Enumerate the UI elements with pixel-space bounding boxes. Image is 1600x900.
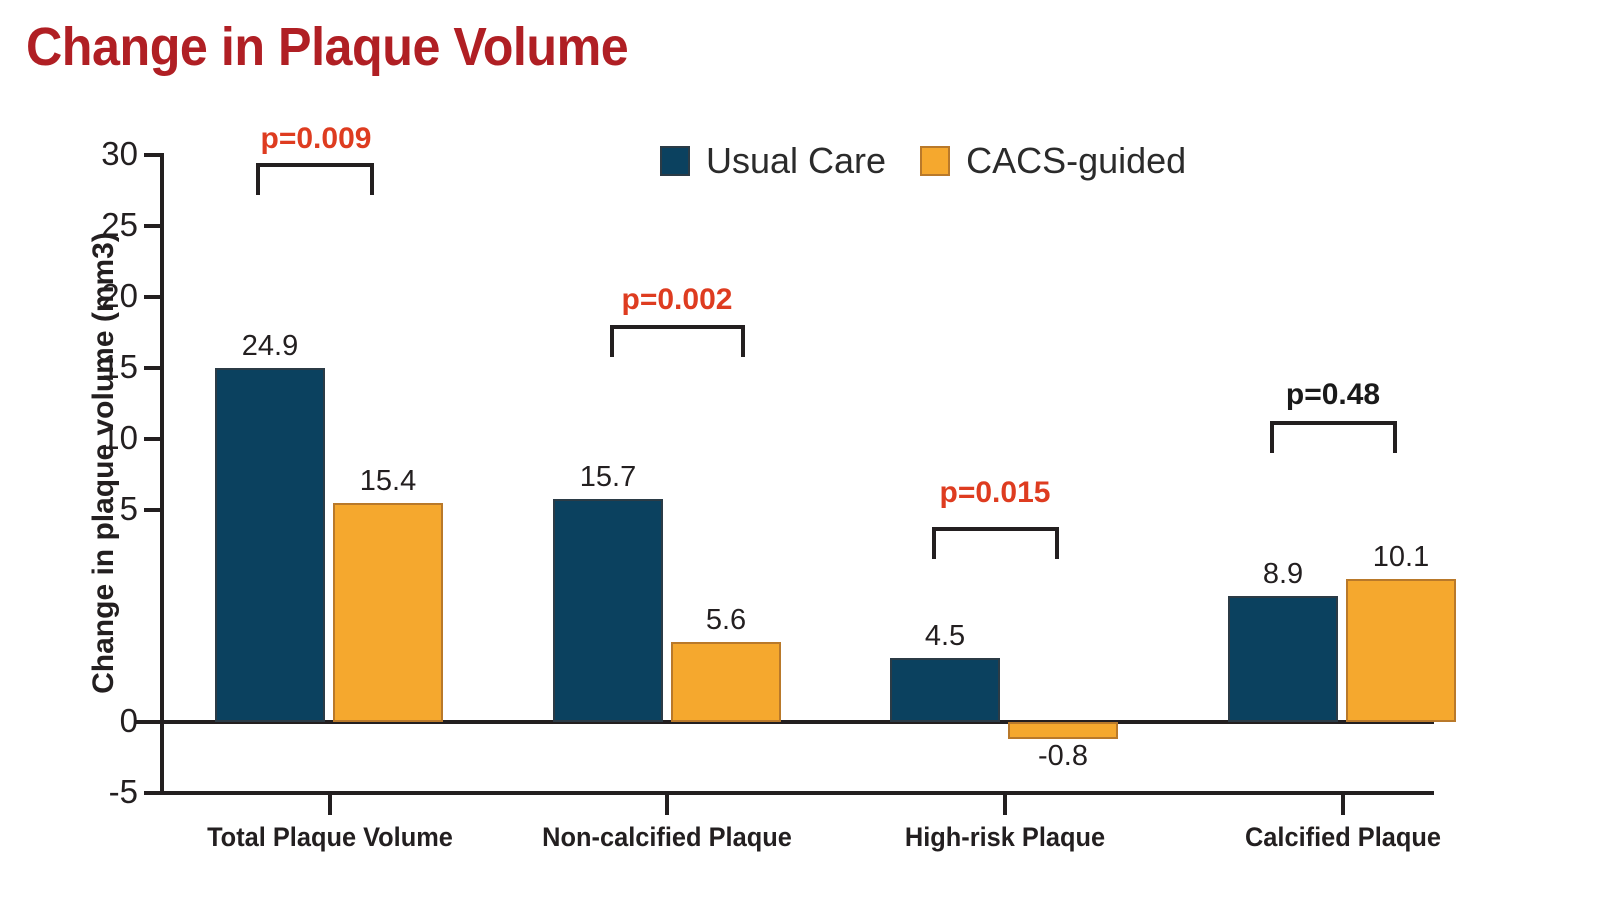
p-value-non-calcified-plaque: p=0.002 [606, 283, 748, 317]
legend-swatch-cacs-guided-icon [920, 146, 950, 176]
y-tick-0 [136, 720, 162, 724]
y-tick-label-15: 15 [72, 348, 138, 386]
bar-usual-care-non-calcified-plaque[interactable] [553, 499, 663, 722]
y-axis-line [160, 153, 164, 795]
bar-value-usual-care-total-plaque-volume: 24.9 [200, 330, 340, 363]
legend: Usual Care CACS-guided [660, 140, 1186, 182]
y-tick-label-0: 0 [72, 702, 138, 740]
x-tick-total-plaque-volume [328, 793, 332, 815]
bar-value-cacs-guided-total-plaque-volume: 15.4 [318, 465, 458, 498]
bar-cacs-guided-total-plaque-volume[interactable] [333, 503, 443, 722]
bar-chart: Change in plaque volume (mm3) 30 25 20 1… [0, 0, 1600, 900]
y-tick-label-5: 5 [72, 490, 138, 528]
significance-bracket-non-calcified-plaque [610, 325, 745, 357]
y-tick-label-minus5: -5 [72, 773, 138, 811]
slide-root: Change in Plaque Volume Change in plaque… [0, 0, 1600, 900]
significance-bracket-total-plaque-volume [256, 163, 374, 195]
legend-item-usual-care[interactable]: Usual Care [660, 140, 886, 182]
bar-cacs-guided-calcified-plaque[interactable] [1346, 579, 1456, 722]
y-axis-title: Change in plaque volume (mm3) [87, 153, 121, 773]
p-value-total-plaque-volume: p=0.009 [245, 122, 387, 156]
x-tick-non-calcified-plaque [665, 793, 669, 815]
bar-cacs-guided-non-calcified-plaque[interactable] [671, 642, 781, 722]
x-tick-high-risk-plaque [1003, 793, 1007, 815]
y-tick-30 [144, 153, 162, 157]
y-tick-label-20: 20 [72, 277, 138, 315]
bar-value-cacs-guided-calcified-plaque: 10.1 [1331, 541, 1471, 574]
bar-value-cacs-guided-high-risk-plaque: -0.8 [993, 740, 1133, 773]
y-tick-20 [144, 295, 162, 299]
significance-bracket-high-risk-plaque [932, 527, 1059, 559]
y-tick-5 [144, 508, 162, 512]
x-axis-label-calcified-plaque: Calcified Plaque [1174, 822, 1512, 853]
y-tick-25 [144, 224, 162, 228]
legend-swatch-usual-care-icon [660, 146, 690, 176]
bar-cacs-guided-high-risk-plaque[interactable] [1008, 722, 1118, 739]
bar-value-usual-care-non-calcified-plaque: 15.7 [538, 461, 678, 494]
bar-usual-care-calcified-plaque[interactable] [1228, 596, 1338, 722]
legend-label-cacs-guided: CACS-guided [966, 140, 1186, 182]
y-tick-10 [144, 437, 162, 441]
y-tick-15 [144, 366, 162, 370]
bar-usual-care-total-plaque-volume[interactable] [215, 368, 325, 722]
x-axis-label-high-risk-plaque: High-risk Plaque [836, 822, 1174, 853]
legend-item-cacs-guided[interactable]: CACS-guided [920, 140, 1186, 182]
bar-value-usual-care-high-risk-plaque: 4.5 [875, 620, 1015, 653]
y-tick-minus5 [144, 791, 162, 795]
significance-bracket-calcified-plaque [1270, 421, 1397, 453]
bar-usual-care-high-risk-plaque[interactable] [890, 658, 1000, 722]
x-axis-line [162, 791, 1434, 795]
x-axis-label-total-plaque-volume: Total Plaque Volume [161, 822, 499, 853]
y-tick-label-25: 25 [72, 206, 138, 244]
p-value-high-risk-plaque: p=0.015 [924, 476, 1066, 510]
x-tick-calcified-plaque [1341, 793, 1345, 815]
y-tick-label-10: 10 [72, 419, 138, 457]
y-tick-label-30: 30 [72, 135, 138, 173]
bar-value-cacs-guided-non-calcified-plaque: 5.6 [656, 604, 796, 637]
x-axis-label-non-calcified-plaque: Non-calcified Plaque [498, 822, 836, 853]
p-value-calcified-plaque: p=0.48 [1262, 378, 1404, 412]
legend-label-usual-care: Usual Care [706, 140, 886, 182]
